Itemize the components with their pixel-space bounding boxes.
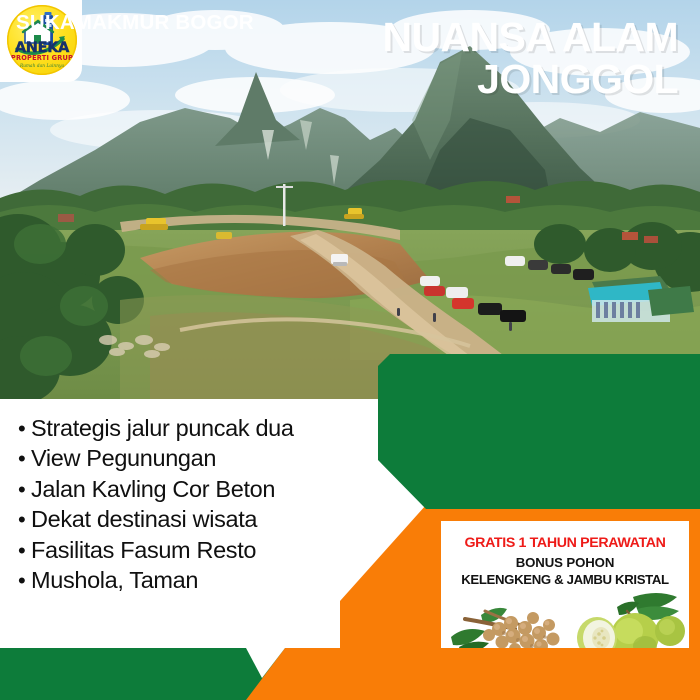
list-item: • Jalan Kavling Cor Beton <box>18 476 368 503</box>
page-title: NUANSA ALAM JONGGOL <box>378 16 678 100</box>
promo-headline: GRATIS 1 TAHUN PERAWATAN <box>441 536 689 550</box>
promo-subline-2: KELENGKENG & JAMBU KRISTAL <box>441 573 689 586</box>
headline-line-2: JONGGOL <box>378 58 678 100</box>
footer-location-label: SUKAMAKMUR BOGOR <box>16 13 254 34</box>
list-item: • Dekat destinasi wisata <box>18 506 368 533</box>
headline-panel-shape <box>360 354 700 509</box>
list-item-label: Fasilitas Fasum Resto <box>31 537 256 564</box>
bullet-icon: • <box>18 570 31 592</box>
headline-panel <box>360 354 700 509</box>
bullet-icon: • <box>18 540 31 562</box>
property-advertisement-poster: ANEKA PROPERTI GRUP Rumah dan Lainnya NU… <box>0 0 700 700</box>
bullet-icon: • <box>18 509 31 531</box>
list-item-label: Mushola, Taman <box>31 567 198 594</box>
bullet-icon: • <box>18 448 31 470</box>
footer-bar-shape <box>0 648 700 700</box>
list-item-label: Dekat destinasi wisata <box>31 506 257 533</box>
list-item-label: Jalan Kavling Cor Beton <box>31 476 275 503</box>
headline-line-1: NUANSA ALAM <box>378 16 678 58</box>
promo-card: GRATIS 1 TAHUN PERAWATAN BONUS POHON KEL… <box>441 521 689 661</box>
feature-list: • Strategis jalur puncak dua • View Pegu… <box>18 415 368 598</box>
promo-subline-1: BONUS POHON <box>441 556 689 569</box>
bullet-icon: • <box>18 418 31 440</box>
footer-bar <box>0 648 700 700</box>
list-item-label: Strategis jalur puncak dua <box>31 415 294 442</box>
list-item: • View Pegunungan <box>18 445 368 472</box>
list-item: • Fasilitas Fasum Resto <box>18 537 368 564</box>
list-item-label: View Pegunungan <box>31 445 216 472</box>
logo-brand-sub: PROPERTI GRUP <box>7 55 77 62</box>
list-item: • Mushola, Taman <box>18 567 368 594</box>
logo-tagline: Rumah dan Lainnya <box>7 64 77 68</box>
list-item: • Strategis jalur puncak dua <box>18 415 368 442</box>
bullet-icon: • <box>18 479 31 501</box>
